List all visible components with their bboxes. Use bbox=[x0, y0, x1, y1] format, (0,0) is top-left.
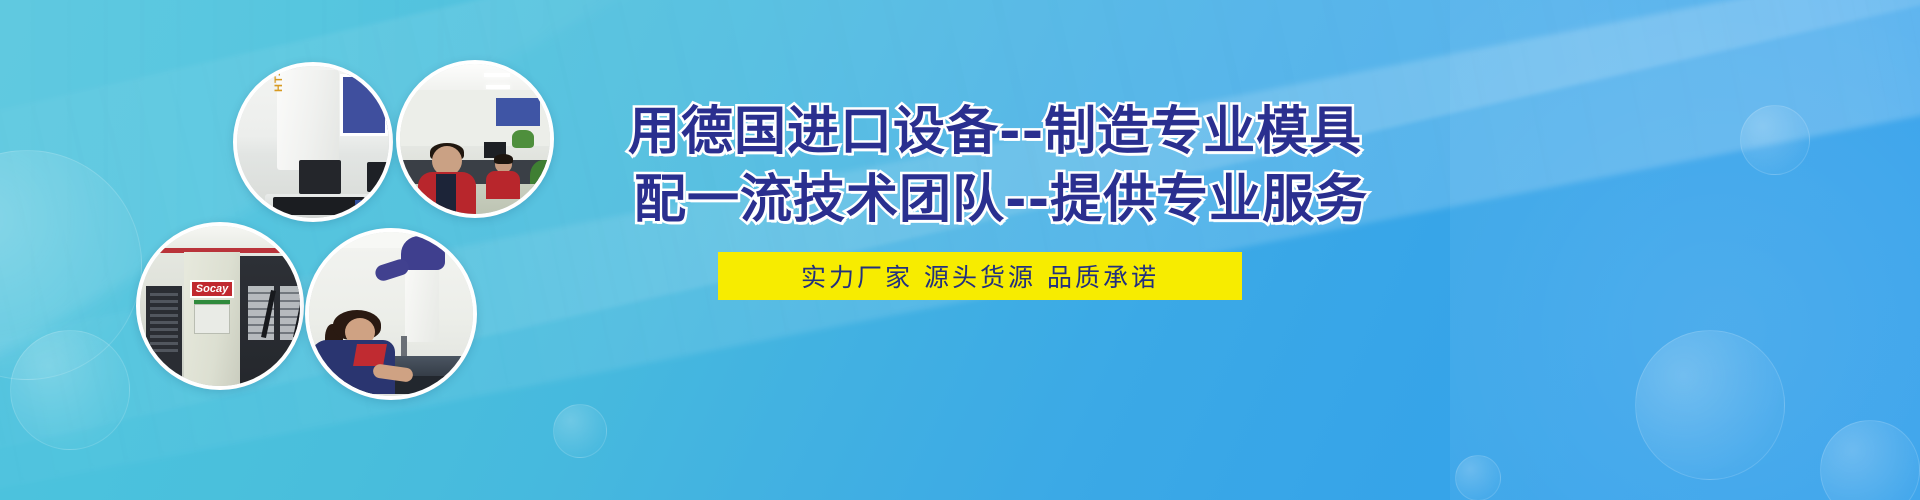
machine-window bbox=[280, 286, 304, 340]
photo-cnc-machining-center: Socay bbox=[136, 222, 304, 390]
ceiling-light bbox=[484, 73, 510, 77]
photo-office-staff bbox=[396, 60, 554, 218]
machine-model-label: HT-3020 bbox=[273, 62, 285, 92]
office-worker bbox=[486, 156, 520, 198]
bubble-decoration bbox=[553, 404, 607, 458]
photo-cmm-inspection bbox=[305, 228, 477, 400]
tagline-text: 实力厂家 源头货源 品质承诺 bbox=[801, 258, 1159, 294]
headline-line-1: 用德国进口设备--制造专业模具 bbox=[628, 98, 1388, 166]
cmm-operator bbox=[311, 310, 407, 394]
cabinet-vent bbox=[150, 292, 178, 352]
promo-banner: HT-3020 bbox=[0, 0, 1920, 500]
office-worker bbox=[416, 146, 478, 218]
control-panel-plate bbox=[194, 304, 230, 334]
upper-machine-edge bbox=[309, 232, 473, 248]
bubble-decoration bbox=[0, 150, 142, 380]
wall-board bbox=[496, 98, 540, 126]
wall-panel bbox=[340, 74, 388, 136]
bubble-decoration bbox=[1635, 330, 1785, 480]
bubble-decoration bbox=[1820, 420, 1920, 500]
plant bbox=[512, 130, 534, 148]
bubble-decoration bbox=[1455, 455, 1501, 500]
machine-glass-table bbox=[273, 197, 365, 215]
machine-column bbox=[277, 70, 339, 170]
machine-monitor bbox=[367, 162, 393, 192]
ceiling bbox=[400, 64, 550, 92]
ceiling-light bbox=[486, 85, 510, 89]
tagline-bar: 实力厂家 源头货源 品质承诺 bbox=[718, 252, 1242, 300]
photo-vision-measuring-machine: HT-3020 bbox=[233, 62, 393, 222]
machine-brand-label: Socay bbox=[190, 280, 234, 298]
machine-optical-head bbox=[299, 160, 341, 194]
headline-block: 用德国进口设备--制造专业模具 配一流技术团队--提供专业服务 bbox=[628, 98, 1388, 234]
corner-glow bbox=[1450, 0, 1920, 500]
bubble-decoration bbox=[10, 330, 130, 450]
headline-line-2: 配一流技术团队--提供专业服务 bbox=[628, 166, 1388, 234]
ceiling bbox=[140, 226, 300, 248]
blue-desk bbox=[355, 200, 393, 222]
bubble-decoration bbox=[1740, 105, 1810, 175]
